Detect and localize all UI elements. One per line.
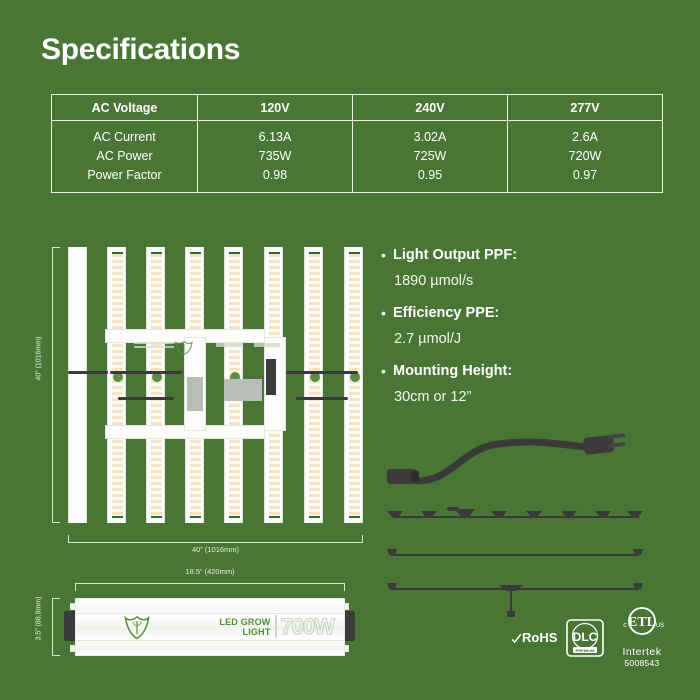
panel-width-label: 40” (1016mm) [68,545,363,554]
driver-diagram: 18.5” (420mm) 3.5” (88.9mm) LED GROW LIG… [30,565,380,675]
bullet-dot-icon: • [381,243,393,268]
specifications-table: AC Voltage 120V 240V 277V AC Current AC … [51,94,663,193]
specs-bullet-list: • Light Output PPF: 1890 µmol/s • Effici… [381,243,671,417]
badge-etl: ETL c US Intertek 5008543 [612,606,672,664]
accessories-diagram [381,425,671,620]
connector-dot-icon [270,372,280,382]
badge-dlc: DLC PREMIUM [564,617,606,659]
specifications-page: Specifications AC Voltage 120V 240V 277V… [0,0,700,700]
led-strip [151,252,162,518]
crossbar-rail-icon [387,549,643,555]
table-row: AC Current AC Power Power Factor 6.13A 7… [52,121,663,193]
led-bar [224,247,243,523]
power-cord-icon [387,433,625,484]
table-cell-120v: 6.13A 735W 0.98 [198,121,353,193]
value-240v-power-factor: 0.95 [353,166,507,185]
checkmark-icon [512,634,521,643]
value-277v-power: 720W [508,147,662,166]
connector-dot-icon [191,372,201,382]
led-bar-array [68,247,363,523]
spec-value-mounting-height: 30cm or 12” [394,385,671,409]
driver-wattage-label: 700W [275,615,334,638]
driver-width-label: 18.5” (420mm) [75,567,345,576]
panel-printed-label-b [254,343,280,347]
accessories-illustration [381,425,671,620]
value-240v-power: 725W [353,147,507,166]
row-label-power-factor: Power Factor [52,166,197,185]
driver-height-label: 3.5” (88.9mm) [36,591,43,647]
led-strip [269,252,280,518]
driver-brand-line2: LIGHT [219,627,270,637]
led-strip [190,252,201,518]
row-label-ac-current: AC Current [52,128,197,147]
svg-text:DLC: DLC [573,630,598,644]
brand-leaf-icon [124,615,150,641]
panel-width-dimension-line [68,535,363,543]
table-cell-277v: 2.6A 720W 0.97 [508,121,663,193]
svg-text:c: c [623,622,627,629]
svg-text:PREMIUM: PREMIUM [576,648,596,653]
spec-label-light-output: Light Output PPF: [393,243,517,268]
value-120v-power: 735W [198,147,352,166]
connector-dot-icon [310,372,320,382]
certification-badges: RoHS DLC PREMIUM ETL c US Intertek 50085… [512,606,672,668]
spec-value-light-output: 1890 µmol/s [394,269,671,293]
row-label-ac-power: AC Power [52,147,197,166]
driver-branding: LED GROW LIGHT 700W [219,615,334,638]
badge-rohs-label: RoHS [522,630,557,645]
led-strip [112,252,123,518]
led-bar [344,247,363,523]
connector-dot-icon [113,372,123,382]
spec-label-efficiency: Efficiency PPE: [393,301,499,326]
driver-brand-line1: LED GROW [219,617,270,627]
connector-dot-icon [350,372,360,382]
table-cell-row-labels: AC Current AC Power Power Factor [52,121,198,193]
value-120v-power-factor: 0.98 [198,166,352,185]
eight-way-splitter-harness-icon [387,507,643,517]
panel-printed-label-a [216,343,242,347]
led-strip [349,252,360,518]
led-bar [68,247,87,523]
panel-height-dimension-line [52,247,60,523]
table-header-277v: 277V [508,95,663,121]
led-bar [107,247,126,523]
list-item: • Efficiency PPE: [381,301,671,326]
badge-rohs: RoHS [512,630,557,645]
spec-label-mounting-height: Mounting Height: [393,359,512,384]
led-bar [185,247,204,523]
table-header-ac-voltage: AC Voltage [52,95,198,121]
value-120v-current: 6.13A [198,128,352,147]
value-277v-power-factor: 0.97 [508,166,662,185]
list-item: • Mounting Height: [381,359,671,384]
table-header-row: AC Voltage 120V 240V 277V [52,95,663,121]
driver-width-dimension-line [75,583,345,591]
driver-housing: LED GROW LIGHT 700W [75,598,345,656]
table-cell-240v: 3.02A 725W 0.95 [353,121,508,193]
led-strip [229,252,240,518]
led-bar [146,247,165,523]
table-header-240v: 240V [353,95,508,121]
bullet-dot-icon: • [381,359,393,384]
brand-leaf-icon [174,340,194,356]
led-strip [309,252,320,518]
list-item: • Light Output PPF: [381,243,671,268]
led-bar [304,247,323,523]
svg-text:ETL: ETL [628,615,656,630]
connector-dot-icon [230,372,240,382]
page-title: Specifications [41,33,240,67]
led-bar [264,247,283,523]
value-240v-current: 3.02A [353,128,507,147]
spec-value-efficiency: 2.7 µmol/J [394,327,671,351]
value-277v-current: 2.6A [508,128,662,147]
svg-text:US: US [656,623,664,629]
badge-etl-number: 5008543 [612,658,672,668]
connector-dot-icon [152,372,162,382]
panel-height-label: 40” (1016mm) [36,329,43,389]
led-panel-diagram: 40” (1016mm) [30,245,370,565]
badge-etl-agency: Intertek [612,646,672,658]
table-header-120v: 120V [198,95,353,121]
driver-height-dimension-line [52,598,60,656]
driver-brand-text: LED GROW LIGHT [219,617,270,637]
bullet-dot-icon: • [381,301,393,326]
etl-mark-icon: ETL c US [612,606,672,640]
panel-printed-text [134,342,174,350]
